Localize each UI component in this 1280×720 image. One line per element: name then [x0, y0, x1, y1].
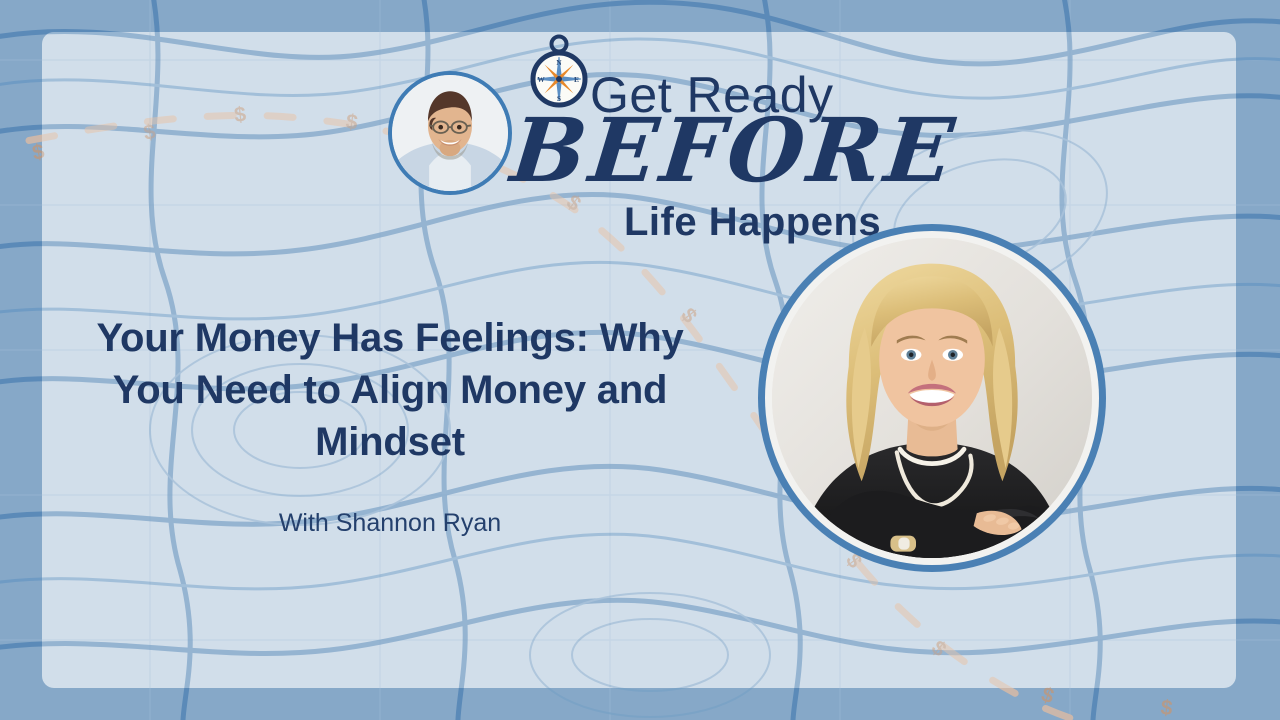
compass-label-n: N — [556, 58, 562, 67]
guest-avatar — [758, 224, 1106, 572]
episode-text-block: Your Money Has Feelings: Why You Need to… — [70, 312, 710, 538]
episode-cover: $ $ $ $ $ $ $ $ $ $ $ $ — [0, 0, 1280, 720]
episode-title: Your Money Has Feelings: Why You Need to… — [70, 312, 710, 468]
brand-lockup: N E S W Get Ready BEFORE Life Happens — [386, 34, 906, 239]
episode-guest-credit: With Shannon Ryan — [70, 468, 710, 538]
brand-line-life-happens: Life Happens — [624, 202, 881, 242]
brand-line-before: BEFORE — [507, 106, 961, 194]
host-avatar-image — [392, 75, 508, 191]
compass-label-w: W — [537, 75, 545, 84]
guest-avatar-inner-ring — [765, 231, 1099, 565]
compass-label-e: E — [574, 75, 579, 84]
host-avatar — [388, 71, 512, 195]
guest-avatar-image — [772, 238, 1092, 558]
